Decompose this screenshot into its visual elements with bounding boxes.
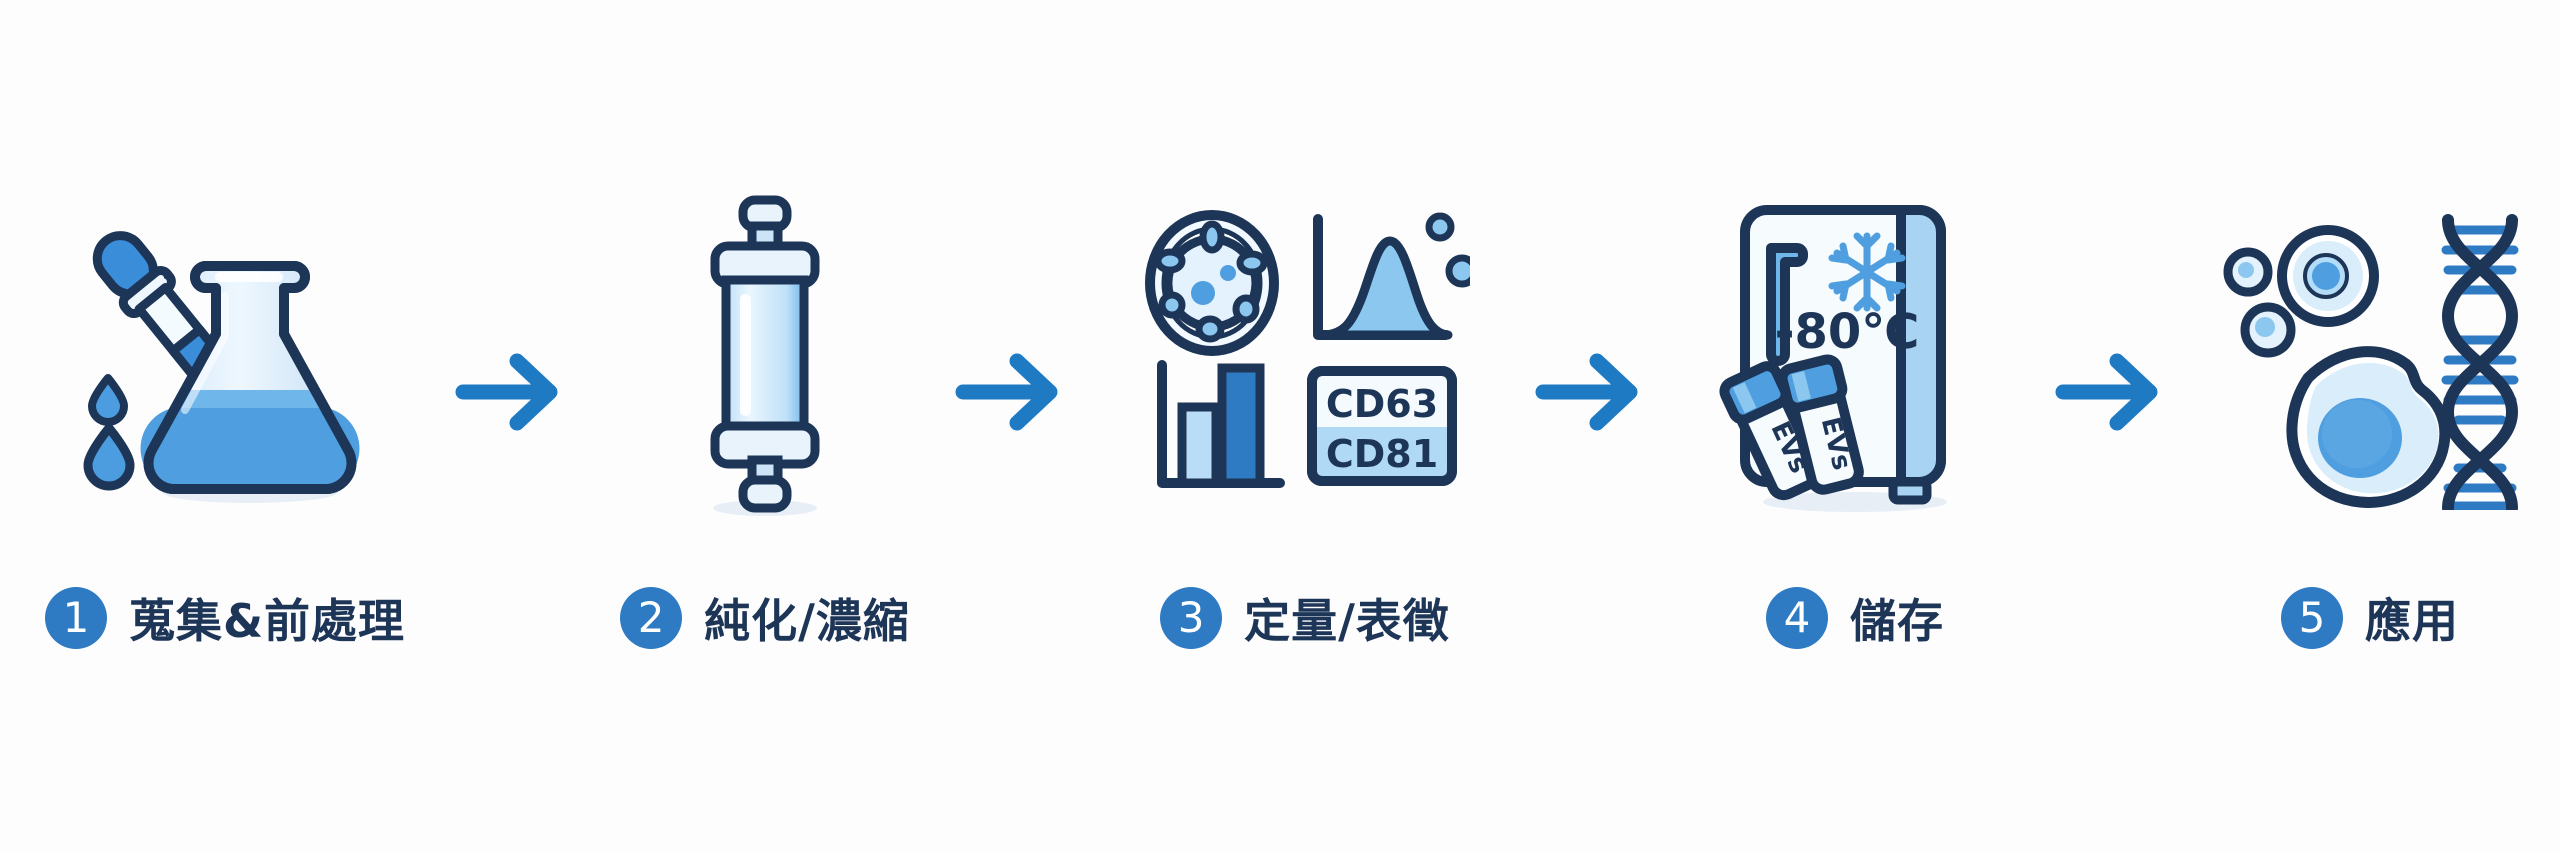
bar-2 [1222, 368, 1260, 483]
arrow-right-icon [955, 347, 1075, 437]
arrow-step4-to-step5 [2040, 232, 2190, 552]
nta-size-distribution-curve-icon [1318, 216, 1470, 335]
workflow-step-5: 5 應用 [2190, 147, 2550, 707]
column-highlight [740, 294, 751, 416]
step-4-title: 儲存 [1850, 585, 1944, 651]
particle-dot-icon [1429, 216, 1451, 238]
step-4-icon: -80℃ EVs EVs [1670, 195, 2040, 515]
marker-label-cd81: CD81 [1326, 432, 1438, 476]
marker-label-cd63: CD63 [1326, 382, 1438, 426]
bar-1 [1182, 407, 1216, 483]
large-cell-icon [2292, 351, 2445, 502]
column-body [726, 280, 804, 430]
workflow-step-1: 1 蒐集&前處理 [10, 147, 440, 707]
step-3-label-row: 3 定量/表徵 [1160, 585, 1450, 651]
step-1-title: 蒐集&前處理 [129, 585, 405, 651]
column-bottom-nozzle [743, 480, 787, 508]
step-3-title: 定量/表徵 [1244, 585, 1450, 651]
step-5-title: 應用 [2365, 585, 2459, 651]
step-4-label-row: 4 儲存 [1766, 585, 1944, 651]
dna-double-helix-icon [2446, 220, 2514, 508]
step-2-title: 純化/濃縮 [704, 585, 910, 651]
step-2-label-row: 2 純化/濃縮 [620, 585, 910, 651]
step-1-icon [10, 195, 440, 515]
step-5-icon [2190, 195, 2550, 515]
bar-chart-icon [1162, 365, 1280, 483]
arrow-step2-to-step3 [940, 232, 1090, 552]
exosome-vesicle-icon [1150, 215, 1274, 351]
workflow-step-2: 2 純化/濃縮 [590, 147, 940, 707]
medium-cell-icon [2282, 230, 2374, 322]
step-4-badge: 4 [1766, 587, 1828, 649]
step-3-badge: 3 [1160, 587, 1222, 649]
step-3-icon: CD63 CD81 [1090, 195, 1520, 515]
freezer-temperature-label: -80℃ [1775, 304, 1920, 360]
minus-eighty-freezer-icon: -80℃ EVs EVs [1715, 190, 1995, 520]
step-2-badge: 2 [620, 587, 682, 649]
step-1-label-row: 1 蒐集&前處理 [45, 585, 405, 651]
freezer-foot [1893, 482, 1927, 500]
workflow-diagram: 1 蒐集&前處理 [0, 0, 2560, 853]
step-5-badge: 5 [2281, 587, 2343, 649]
particle-dot-icon [1449, 258, 1470, 284]
arrow-right-icon [2055, 347, 2175, 437]
cells-and-dna-icon [2220, 200, 2520, 510]
step-5-label-row: 5 應用 [2281, 585, 2459, 651]
arrow-step1-to-step2 [440, 232, 590, 552]
workflow-step-3: CD63 CD81 3 定量/表徵 [1090, 147, 1520, 707]
liquid-droplet-icon [88, 378, 130, 486]
dropper-and-flask-icon [75, 200, 375, 510]
arrow-right-icon [1535, 347, 1655, 437]
workflow-step-4: -80℃ EVs EVs 4 儲存 [1670, 147, 2040, 707]
arrow-right-icon [455, 347, 575, 437]
chromatography-column-icon [680, 190, 850, 520]
arrow-step3-to-step4 [1520, 232, 1670, 552]
step-1-badge: 1 [45, 587, 107, 649]
quantification-characterization-icon: CD63 CD81 [1140, 205, 1470, 505]
step-2-icon [590, 195, 940, 515]
